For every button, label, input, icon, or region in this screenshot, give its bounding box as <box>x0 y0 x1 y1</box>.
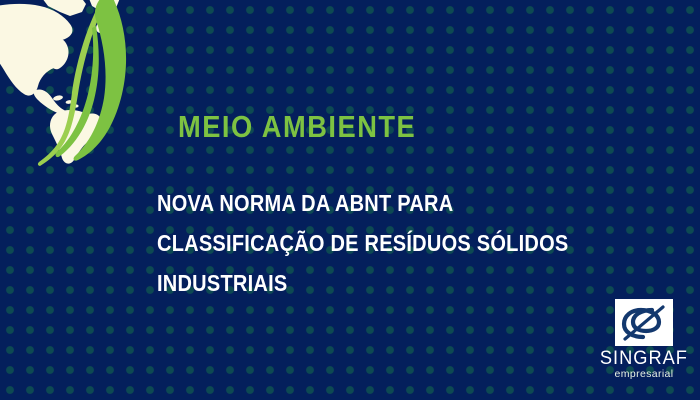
headline-line: INDUSTRIAIS <box>157 272 566 295</box>
banner-content: MEIO AMBIENTE NOVA NORMA DA ABNT PARA CL… <box>157 0 627 400</box>
singraf-logo[interactable]: SINGRAF empresarial <box>596 299 692 383</box>
globe-leaf-emblem <box>0 0 168 166</box>
headline-line: CLASSIFICAÇÃO DE RESÍDUOS SÓLIDOS <box>157 232 566 255</box>
banner-eyebrow: MEIO AMBIENTE <box>178 111 416 142</box>
environment-news-banner: MEIO AMBIENTE NOVA NORMA DA ABNT PARA CL… <box>0 0 700 400</box>
banner-headline: NOVA NORMA DA ABNT PARA CLASSIFICAÇÃO DE… <box>157 192 627 295</box>
singraf-wordmark: SINGRAF <box>600 349 688 368</box>
singraf-swirl-icon <box>615 299 673 346</box>
headline-line: NOVA NORMA DA ABNT PARA <box>157 192 566 215</box>
singraf-tagline: empresarial <box>615 369 674 380</box>
